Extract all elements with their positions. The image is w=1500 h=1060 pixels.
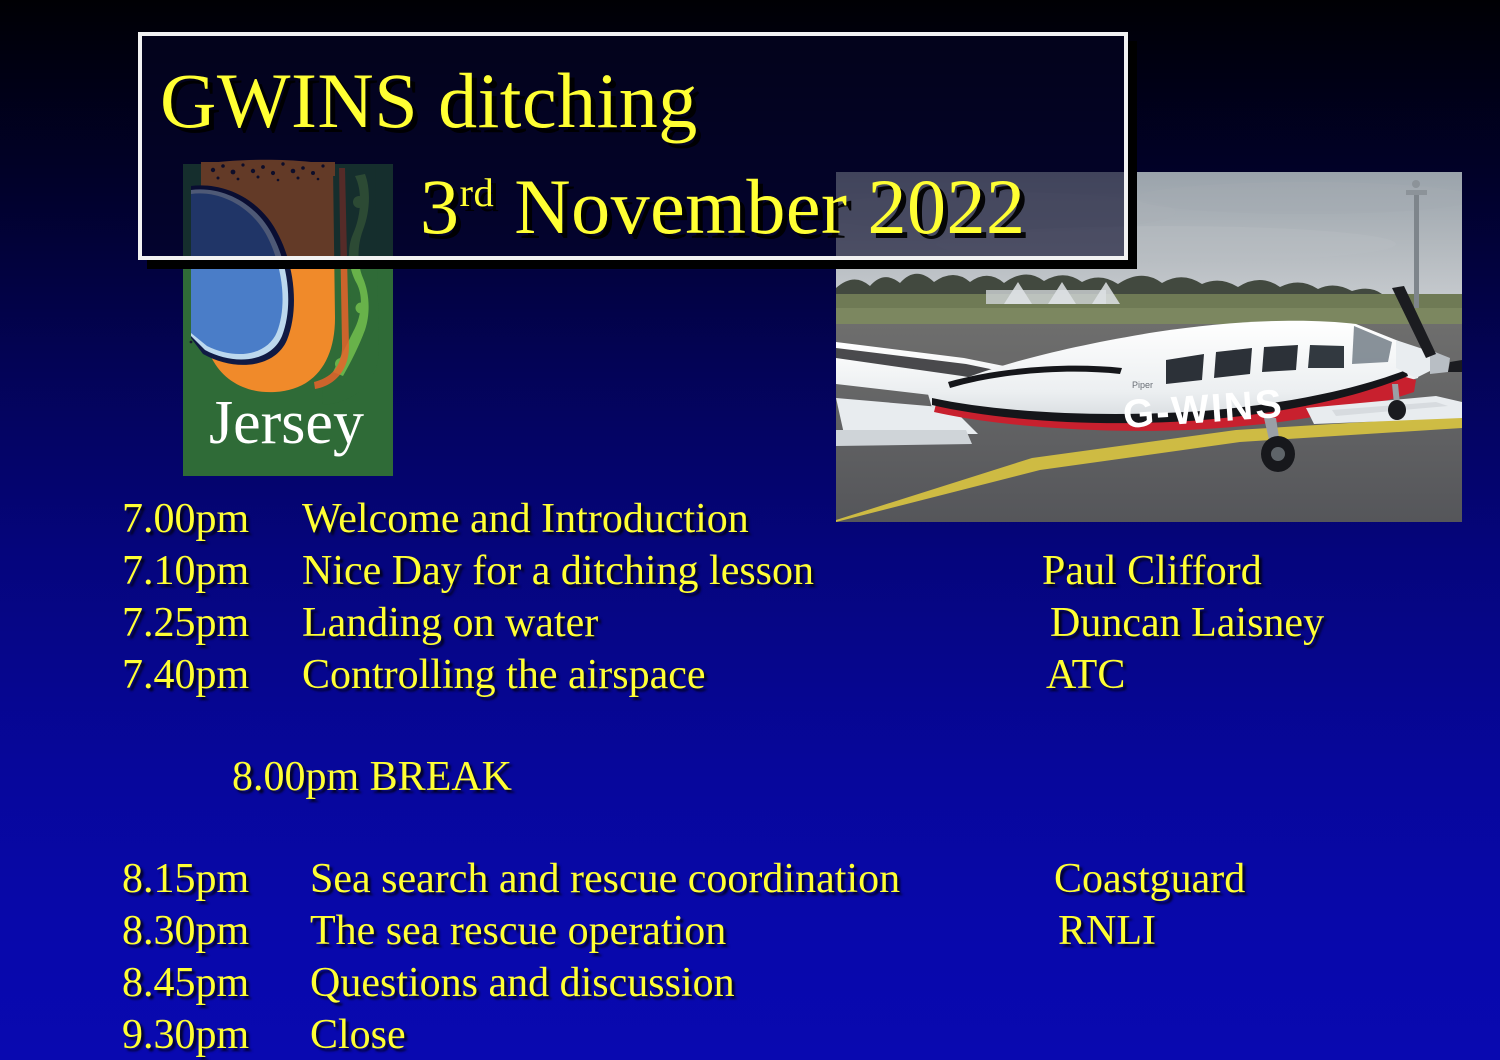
agenda-time: 7.40pm (122, 654, 249, 696)
agenda-speaker: Duncan Laisney (1050, 602, 1324, 644)
agenda-description: Welcome and Introduction (302, 498, 749, 540)
agenda-break-row: 8.00pm BREAK (232, 756, 512, 798)
agenda-time: 8.30pm (122, 910, 249, 952)
agenda-speaker: Paul Clifford (1042, 550, 1262, 592)
presentation-slide: Jersey (0, 0, 1500, 1060)
agenda-description: Sea search and rescue coordination (310, 858, 900, 900)
jersey-logo-caption: Jersey (209, 389, 364, 457)
title-box: GWINS ditching 3rd November 2022 (138, 32, 1128, 260)
agenda-description: Nice Day for a ditching lesson (302, 550, 814, 592)
agenda-time: 7.25pm (122, 602, 249, 644)
title-day-ordinal-suffix: rd (460, 170, 495, 215)
agenda-speaker: ATC (1046, 654, 1125, 696)
agenda-time: 8.15pm (122, 858, 249, 900)
title-day-number: 3 (420, 163, 460, 250)
agenda-speaker: Coastguard (1054, 858, 1245, 900)
agenda-time: 9.30pm (122, 1014, 249, 1056)
agenda-description: The sea rescue operation (310, 910, 726, 952)
agenda-description: Close (310, 1014, 406, 1056)
title-line-2: 3rd November 2022 (420, 168, 1026, 246)
agenda-description: Controlling the airspace (302, 654, 706, 696)
agenda-time: 7.00pm (122, 498, 249, 540)
agenda-description: Landing on water (302, 602, 598, 644)
agenda-time: 7.10pm (122, 550, 249, 592)
agenda-speaker: RNLI (1058, 910, 1156, 952)
agenda-time: 8.45pm (122, 962, 249, 1004)
title-month-year: November 2022 (494, 163, 1025, 250)
agenda-description: Questions and discussion (310, 962, 735, 1004)
title-line-1: GWINS ditching (160, 62, 698, 140)
